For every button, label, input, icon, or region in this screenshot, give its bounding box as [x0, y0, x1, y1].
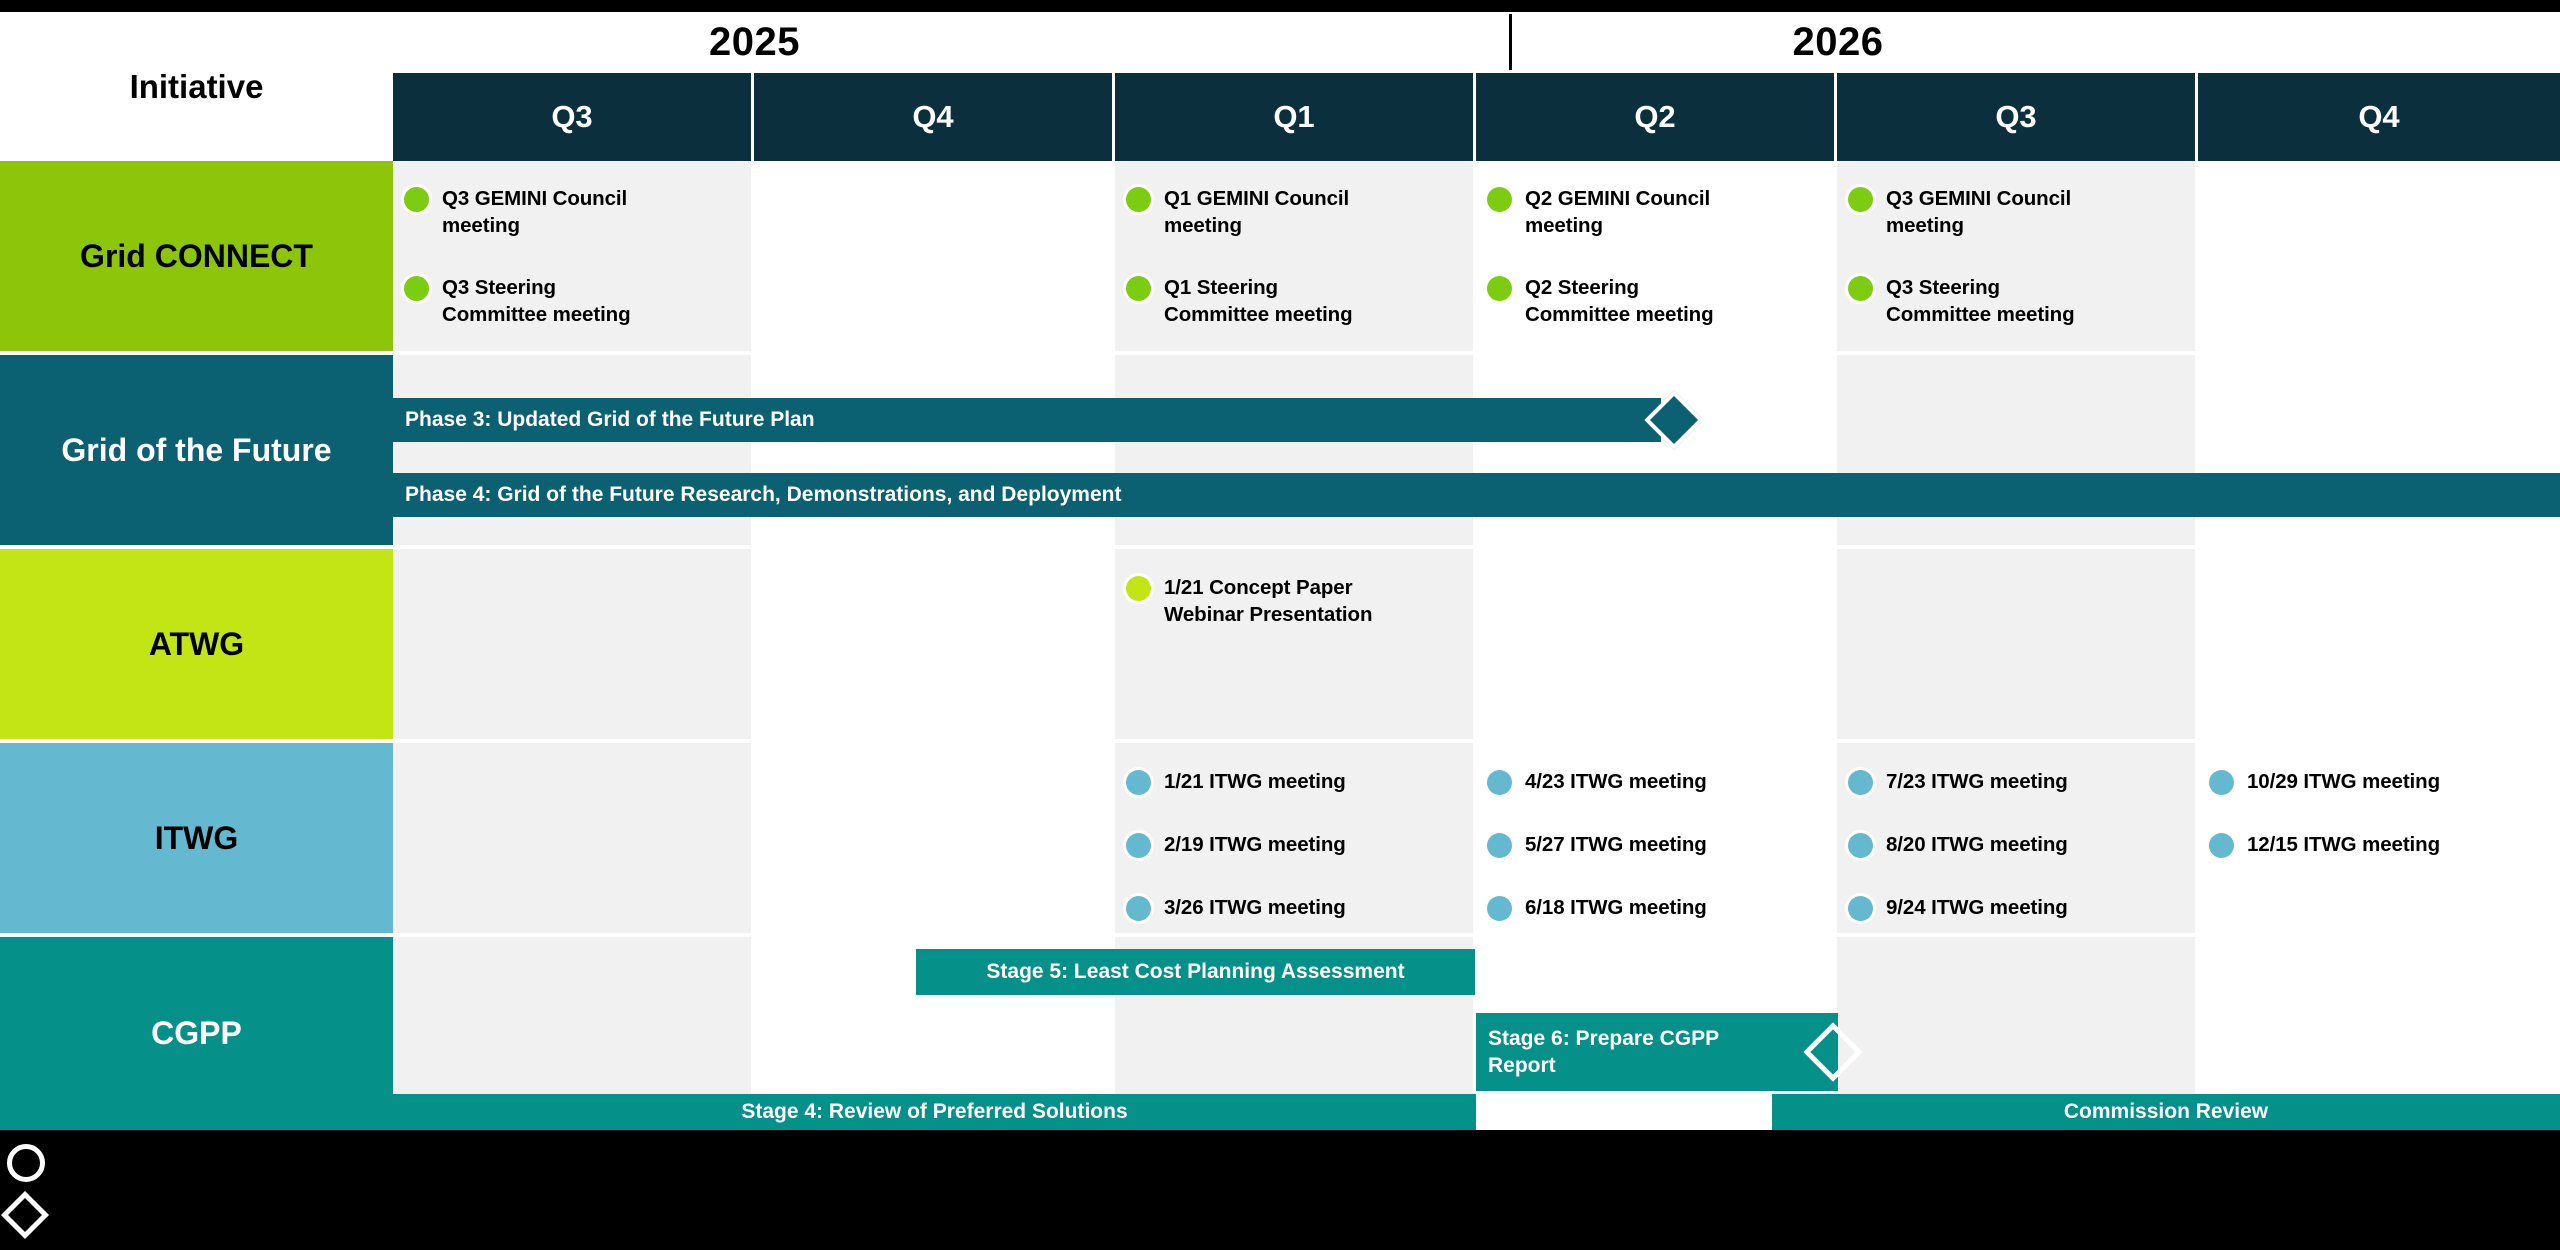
quarter-header-q3-2026[interactable]: Q3 — [1837, 73, 2198, 161]
row-separator-4 — [393, 933, 2560, 937]
milestone-item[interactable]: Q3 Steering Committee meeting — [1848, 274, 2178, 328]
milestone-label: Q3 GEMINI Council meeting — [442, 185, 627, 239]
gantt-bar-stage-6[interactable]: Stage 6: Prepare CGPP Report — [1476, 1013, 1838, 1091]
milestone-dot-icon — [1848, 770, 1873, 795]
milestone-item[interactable]: 6/18 ITWG meeting — [1487, 894, 1827, 921]
milestone-label: 5/27 ITWG meeting — [1525, 831, 1707, 858]
row-label-text: CGPP — [151, 1015, 242, 1052]
milestone-item[interactable]: Q1 GEMINI Council meeting — [1126, 185, 1456, 239]
milestone-item[interactable]: Q3 GEMINI Council meeting — [404, 185, 734, 239]
milestone-label: 6/18 ITWG meeting — [1525, 894, 1707, 921]
legend-area — [0, 1130, 2560, 1250]
milestone-item[interactable]: 10/29 ITWG meeting — [2209, 768, 2549, 795]
milestone-item[interactable]: Q3 GEMINI Council meeting — [1848, 185, 2178, 239]
milestone-label: 8/20 ITWG meeting — [1886, 831, 2068, 858]
milestone-label: 9/24 ITWG meeting — [1886, 894, 2068, 921]
quarter-header-q4-2025[interactable]: Q4 — [754, 73, 1115, 161]
milestone-item[interactable]: 12/15 ITWG meeting — [2209, 831, 2549, 858]
diamond-outline-icon — [1, 1191, 49, 1239]
column-q4-2026 — [2198, 161, 2560, 1130]
row-label-text: Grid CONNECT — [80, 238, 313, 275]
milestone-dot-icon — [1487, 770, 1512, 795]
gantt-bar-label: Stage 4: Review of Preferred Solutions — [741, 1098, 1127, 1125]
row-label-text: Grid of the Future — [61, 432, 331, 469]
milestone-item[interactable]: Q1 Steering Committee meeting — [1126, 274, 1456, 328]
milestone-label: Q3 GEMINI Council meeting — [1886, 185, 2071, 239]
row-separator-3 — [393, 739, 2560, 743]
year-header-band: 2025 2026 — [393, 12, 2560, 73]
milestone-label: Q1 Steering Committee meeting — [1164, 274, 1353, 328]
milestone-item[interactable]: 8/20 ITWG meeting — [1848, 831, 2188, 858]
row-label-atwg[interactable]: ATWG — [0, 549, 393, 743]
quarter-header-q2-2026[interactable]: Q2 — [1476, 73, 1837, 161]
milestone-item[interactable]: 4/23 ITWG meeting — [1487, 768, 1827, 795]
milestone-dot-icon — [1487, 896, 1512, 921]
milestone-label: 2/19 ITWG meeting — [1164, 831, 1346, 858]
quarter-header-row: Q3 Q4 Q1 Q2 Q3 Q4 — [393, 73, 2560, 161]
year-divider — [1509, 14, 1512, 70]
row-label-cgpp[interactable]: CGPP — [0, 937, 393, 1130]
milestone-dot-icon — [1487, 833, 1512, 858]
row-separator-1 — [393, 351, 2560, 355]
milestone-dot-icon — [404, 276, 429, 301]
milestone-dot-icon — [1126, 770, 1151, 795]
row-separator-2 — [393, 545, 2560, 549]
milestone-label: 1/21 Concept Paper Webinar Presentation — [1164, 574, 1372, 628]
milestone-dot-icon — [1126, 187, 1151, 212]
milestone-label: 12/15 ITWG meeting — [2247, 831, 2440, 858]
milestone-item[interactable]: 3/26 ITWG meeting — [1126, 894, 1466, 921]
milestone-dot-icon — [1126, 896, 1151, 921]
milestone-dot-icon — [2209, 833, 2234, 858]
row-label-itwg[interactable]: ITWG — [0, 743, 393, 937]
gantt-bar-phase-3[interactable]: Phase 3: Updated Grid of the Future Plan — [393, 398, 1661, 442]
milestone-item[interactable]: 2/19 ITWG meeting — [1126, 831, 1466, 858]
milestone-item[interactable]: 5/27 ITWG meeting — [1487, 831, 1827, 858]
milestone-label: 7/23 ITWG meeting — [1886, 768, 2068, 795]
milestone-dot-icon — [1848, 187, 1873, 212]
row-label-text: ITWG — [155, 820, 239, 857]
milestone-dot-icon — [1848, 276, 1873, 301]
milestone-label: 10/29 ITWG meeting — [2247, 768, 2440, 795]
milestone-label: Q3 Steering Committee meeting — [442, 274, 631, 328]
row-label-grid-of-the-future[interactable]: Grid of the Future — [0, 355, 393, 549]
timeline-root: Initiative 2025 2026 Q3 Q4 Q1 Q2 Q3 Q4 — [0, 0, 2560, 1250]
milestone-dot-icon — [2209, 770, 2234, 795]
milestone-label: Q1 GEMINI Council meeting — [1164, 185, 1349, 239]
milestone-item[interactable]: Q2 GEMINI Council meeting — [1487, 185, 1817, 239]
milestone-dot-icon — [1126, 276, 1151, 301]
year-label-2026: 2026 — [1116, 12, 2560, 73]
milestone-item[interactable]: Q3 Steering Committee meeting — [404, 274, 734, 328]
milestone-label: 3/26 ITWG meeting — [1164, 894, 1346, 921]
row-label-grid-connect[interactable]: Grid CONNECT — [0, 161, 393, 355]
gantt-bar-commission-review[interactable]: Commission Review — [1772, 1094, 2560, 1130]
chart-canvas: Initiative 2025 2026 Q3 Q4 Q1 Q2 Q3 Q4 — [0, 12, 2560, 1130]
milestone-label: Q3 Steering Committee meeting — [1886, 274, 2075, 328]
initiative-column-header: Initiative — [0, 12, 393, 161]
milestone-dot-icon — [1487, 276, 1512, 301]
milestone-dot-icon — [404, 187, 429, 212]
gantt-bar-stage-5[interactable]: Stage 5: Least Cost Planning Assessment — [916, 949, 1475, 995]
milestone-item[interactable]: 1/21 ITWG meeting — [1126, 768, 1466, 795]
quarter-header-q1-2026[interactable]: Q1 — [1115, 73, 1476, 161]
gantt-bar-label: Commission Review — [2064, 1098, 2268, 1125]
quarter-header-q4-2026[interactable]: Q4 — [2198, 73, 2560, 161]
milestone-item[interactable]: 9/24 ITWG meeting — [1848, 894, 2188, 921]
milestone-item[interactable]: Q2 Steering Committee meeting — [1487, 274, 1817, 328]
milestone-dot-icon — [1848, 833, 1873, 858]
gantt-bar-stage-4[interactable]: Stage 4: Review of Preferred Solutions — [393, 1094, 1476, 1130]
milestone-item[interactable]: 7/23 ITWG meeting — [1848, 768, 2188, 795]
milestone-label: 4/23 ITWG meeting — [1525, 768, 1707, 795]
milestone-dot-icon — [1126, 833, 1151, 858]
circle-outline-icon — [7, 1144, 45, 1182]
milestone-label: Q2 GEMINI Council meeting — [1525, 185, 1710, 239]
milestone-item[interactable]: 1/21 Concept Paper Webinar Presentation — [1126, 574, 1466, 628]
gantt-bar-label: Stage 6: Prepare CGPP Report — [1488, 1025, 1719, 1080]
milestone-label: 1/21 ITWG meeting — [1164, 768, 1346, 795]
milestone-dot-icon — [1487, 187, 1512, 212]
milestone-dot-icon — [1848, 896, 1873, 921]
year-label-2025: 2025 — [393, 12, 1116, 73]
gantt-bar-label: Stage 5: Least Cost Planning Assessment — [986, 958, 1404, 985]
milestone-label: Q2 Steering Committee meeting — [1525, 274, 1714, 328]
row-label-text: ATWG — [149, 626, 244, 663]
gantt-bar-label: Phase 3: Updated Grid of the Future Plan — [405, 406, 815, 433]
gantt-bar-label: Phase 4: Grid of the Future Research, De… — [405, 481, 1121, 508]
timeline-body: Grid CONNECT Grid of the Future ATWG ITW… — [0, 161, 2560, 1130]
quarter-header-q3-2025[interactable]: Q3 — [393, 73, 754, 161]
milestone-dot-icon — [1126, 576, 1151, 601]
gantt-bar-phase-4[interactable]: Phase 4: Grid of the Future Research, De… — [393, 473, 2560, 517]
